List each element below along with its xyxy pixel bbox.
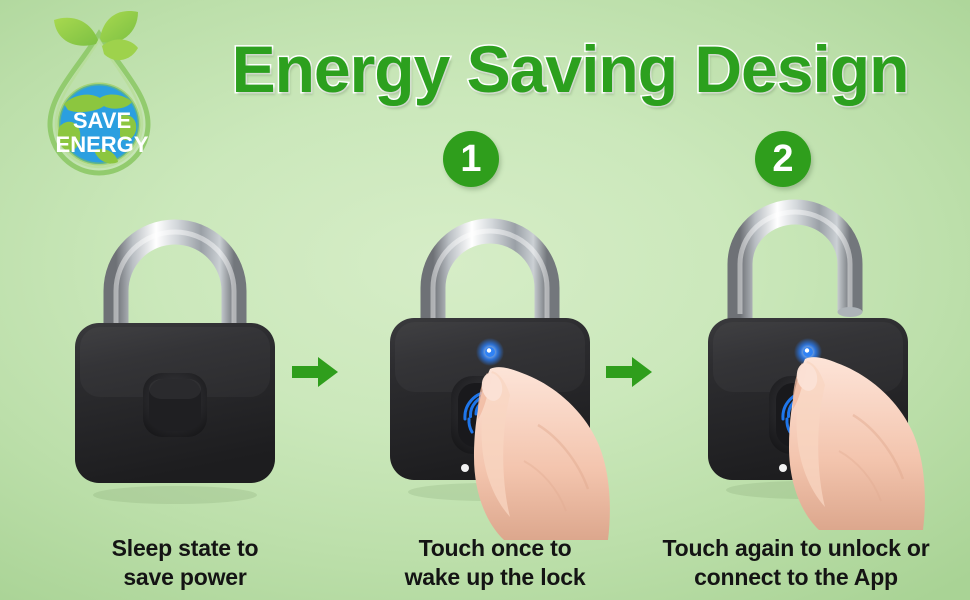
padlock-step-1-sleeping (60, 205, 290, 505)
logo-line2: ENERGY (56, 132, 149, 157)
infographic-canvas: SAVE ENERGY Energy Saving Design 1 2 (0, 0, 970, 600)
status-led (476, 338, 504, 366)
page-title: Energy Saving Design (175, 36, 965, 102)
step-badge-1: 1 (443, 131, 499, 187)
step-caption-1: Sleep state to save power (35, 534, 335, 593)
step-caption-3-line1: Touch again to unlock or (628, 534, 964, 563)
step-caption-3-line2: connect to the App (628, 563, 964, 592)
step-caption-2-line2: wake up the lock (345, 563, 645, 592)
save-energy-logo: SAVE ENERGY (34, 6, 164, 191)
touching-hand-step-2 (430, 365, 620, 540)
next-step-arrow-icon (292, 355, 338, 389)
step-caption-2: Touch once to wake up the lock (345, 534, 645, 593)
touching-hand-step-3 (745, 355, 935, 530)
step-caption-1-line2: save power (35, 563, 335, 592)
step-caption-2-line1: Touch once to (345, 534, 645, 563)
step-badge-2: 2 (755, 131, 811, 187)
step-caption-3: Touch again to unlock or connect to the … (628, 534, 964, 593)
step-caption-1-line1: Sleep state to (35, 534, 335, 563)
logo-line1: SAVE (73, 108, 131, 133)
